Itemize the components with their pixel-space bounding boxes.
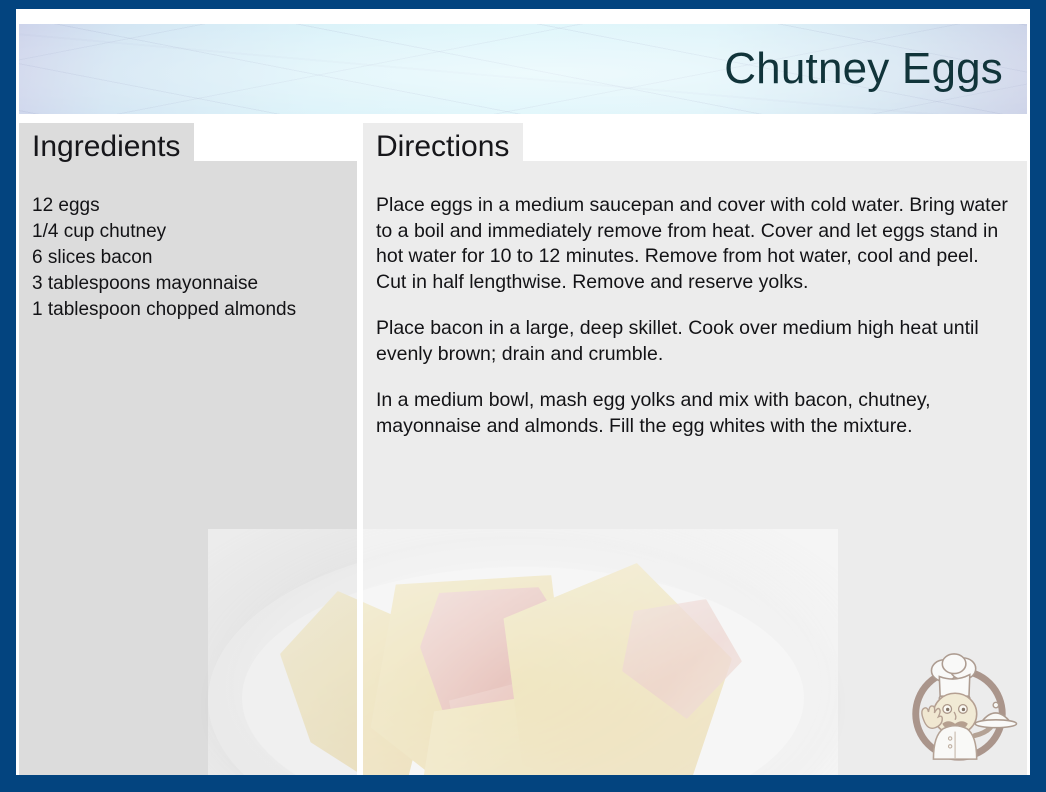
list-item: 1/4 cup chutney [32, 219, 343, 245]
direction-paragraph: Place eggs in a medium saucepan and cove… [376, 193, 1013, 295]
list-item: 6 slices bacon [32, 245, 343, 271]
direction-paragraph: In a medium bowl, mash egg yolks and mix… [376, 388, 1013, 439]
directions-heading: Directions [363, 123, 523, 171]
page-right-margin [1027, 9, 1030, 775]
content-area: Ingredients 12 eggs 1/4 cup chutney 6 sl… [16, 123, 1030, 775]
list-item: 3 tablespoons mayonnaise [32, 271, 343, 297]
column-gutter [357, 123, 363, 775]
list-item: 1 tablespoon chopped almonds [32, 297, 343, 323]
recipe-card-frame: Chutney Eggs Ingredients 12 eggs 1/4 cup… [0, 0, 1046, 792]
recipe-card-page: Chutney Eggs Ingredients 12 eggs 1/4 cup… [16, 9, 1030, 775]
page-title: Chutney Eggs [724, 47, 1003, 91]
ingredients-heading: Ingredients [19, 123, 194, 171]
ingredients-list: 12 eggs 1/4 cup chutney 6 slices bacon 3… [19, 161, 357, 775]
list-item: 12 eggs [32, 193, 343, 219]
direction-paragraph: Place bacon in a large, deep skillet. Co… [376, 316, 1013, 367]
chef-logo [900, 649, 1018, 767]
ingredients-panel: Ingredients 12 eggs 1/4 cup chutney 6 sl… [19, 123, 357, 775]
header-banner: Chutney Eggs [19, 24, 1027, 114]
